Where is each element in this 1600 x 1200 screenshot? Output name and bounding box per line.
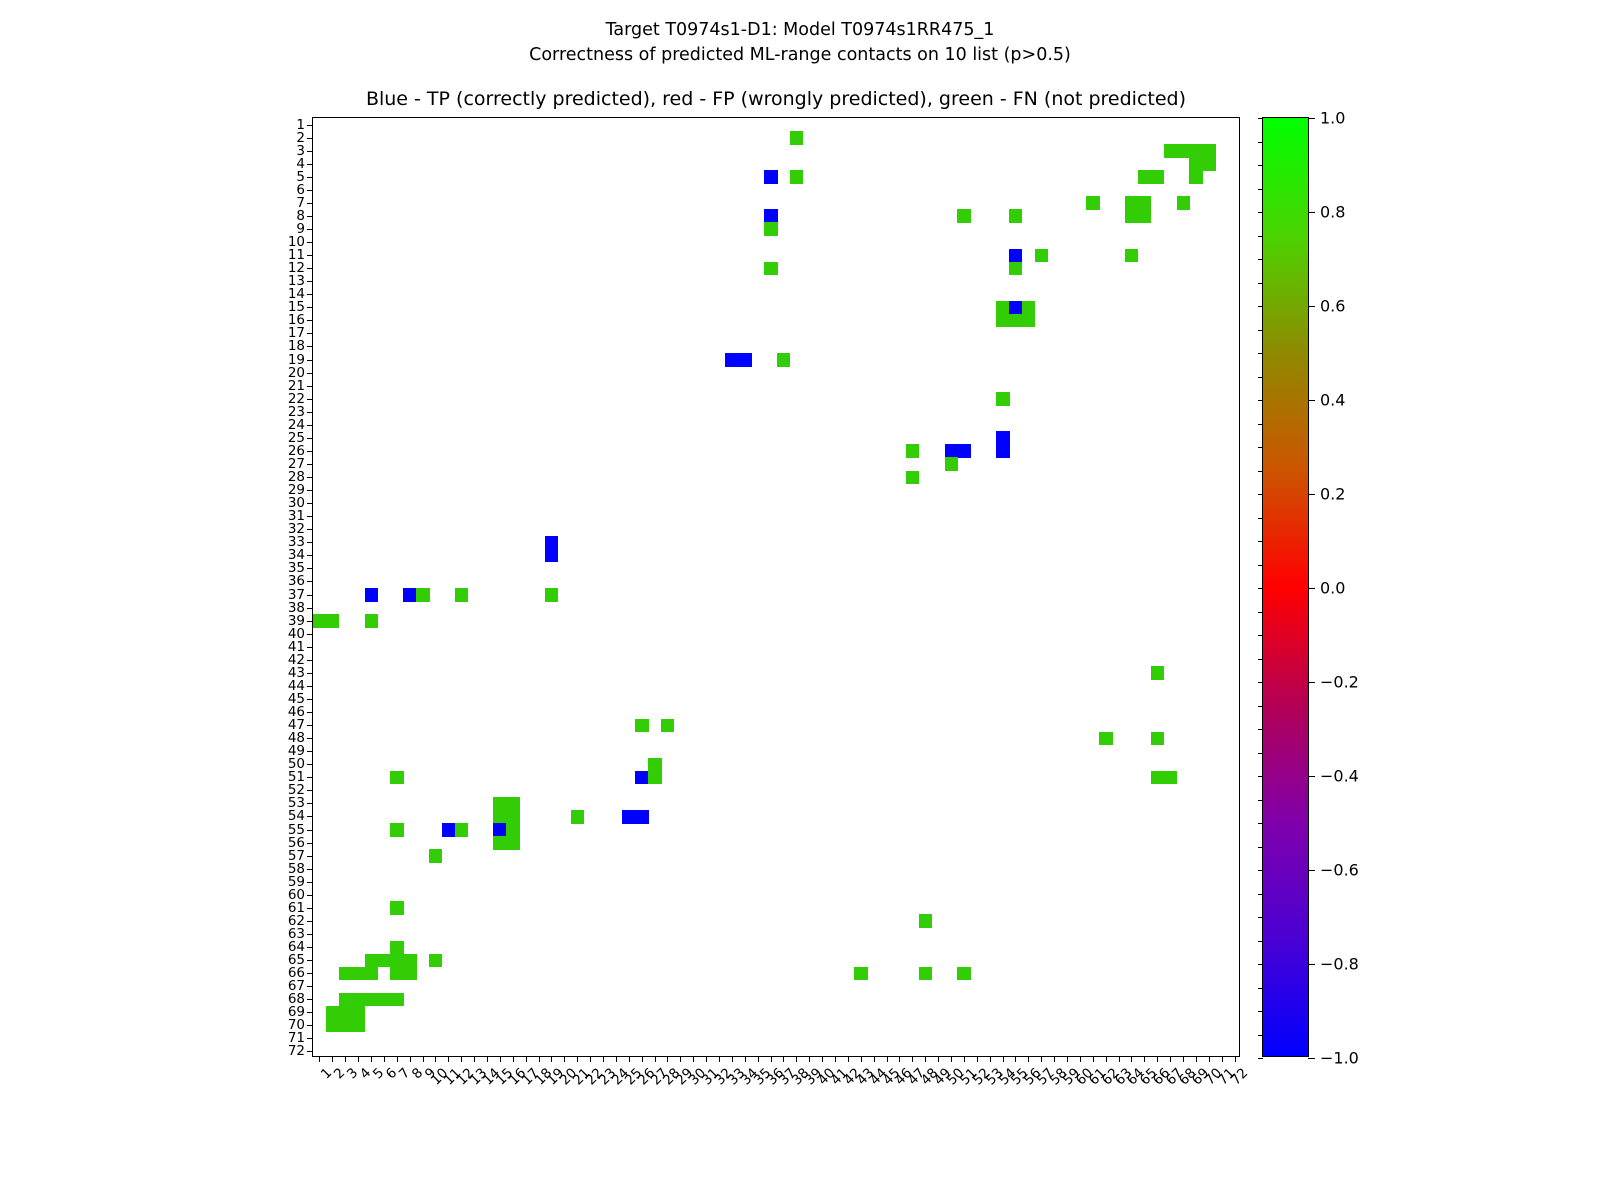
y-axis-tick-mark bbox=[307, 333, 313, 334]
colorbar-tick-label: −1.0 bbox=[1320, 1049, 1359, 1068]
y-axis-tick-mark bbox=[307, 738, 313, 739]
contact-cell bbox=[1151, 732, 1164, 746]
colorbar-tick-mark bbox=[1308, 870, 1315, 871]
x-axis-tick-mark bbox=[1235, 1056, 1236, 1062]
x-axis-tick-mark bbox=[1157, 1056, 1158, 1062]
y-axis-tick-mark bbox=[307, 503, 313, 504]
y-axis-tick-mark bbox=[307, 595, 313, 596]
colorbar-minor-tick bbox=[1258, 377, 1263, 378]
contact-cell bbox=[545, 549, 558, 563]
x-axis-tick-mark bbox=[513, 1056, 514, 1062]
x-axis-tick-mark bbox=[319, 1056, 320, 1062]
contact-cell bbox=[1138, 170, 1151, 184]
y-axis-tick-mark bbox=[307, 843, 313, 844]
contact-cell bbox=[1009, 314, 1022, 328]
contact-cell bbox=[416, 588, 429, 602]
x-axis-tick-label: 8 bbox=[409, 1065, 426, 1082]
colorbar-minor-tick bbox=[1258, 236, 1263, 237]
y-axis-tick-mark bbox=[307, 151, 313, 152]
y-axis-tick-mark bbox=[307, 320, 313, 321]
contact-cell bbox=[352, 967, 365, 981]
x-axis-tick-mark bbox=[887, 1056, 888, 1062]
contact-cell bbox=[1164, 144, 1177, 158]
contact-cell bbox=[764, 222, 777, 236]
axes-title-legend: Blue - TP (correctly predicted), red - F… bbox=[312, 88, 1240, 110]
x-axis-tick-mark bbox=[564, 1056, 565, 1062]
x-axis-tick-mark bbox=[1003, 1056, 1004, 1062]
y-axis-tick-mark bbox=[307, 307, 313, 308]
x-axis-tick-mark bbox=[474, 1056, 475, 1062]
colorbar-minor-tick bbox=[1258, 847, 1263, 848]
contact-cell bbox=[648, 771, 661, 785]
contact-cell bbox=[493, 823, 506, 837]
x-axis-tick-mark bbox=[745, 1056, 746, 1062]
colorbar-minor-tick bbox=[1258, 471, 1263, 472]
colorbar-tick-mark bbox=[1308, 494, 1315, 495]
contact-cell bbox=[352, 1019, 365, 1033]
colorbar-tick-label: 0.0 bbox=[1320, 579, 1345, 598]
colorbar-minor-tick bbox=[1258, 447, 1263, 448]
x-axis-tick-mark bbox=[796, 1056, 797, 1062]
contact-cell bbox=[790, 131, 803, 145]
x-axis-tick-mark bbox=[667, 1056, 668, 1062]
x-axis-tick-mark bbox=[358, 1056, 359, 1062]
x-axis-tick-mark bbox=[448, 1056, 449, 1062]
colorbar-minor-tick bbox=[1258, 565, 1263, 566]
x-axis-tick-mark bbox=[848, 1056, 849, 1062]
x-axis-tick-mark bbox=[1209, 1056, 1210, 1062]
colorbar-tick-label: 0.4 bbox=[1320, 391, 1345, 410]
contact-cell bbox=[493, 836, 506, 850]
y-axis-tick-mark bbox=[307, 1051, 313, 1052]
colorbar-tick-mark bbox=[1308, 682, 1315, 683]
contact-cell bbox=[957, 444, 970, 458]
x-axis-tick-mark bbox=[912, 1056, 913, 1062]
x-axis-tick-mark bbox=[771, 1056, 772, 1062]
y-axis-tick-mark bbox=[307, 464, 313, 465]
x-axis-tick-mark bbox=[938, 1056, 939, 1062]
y-axis-tick-mark bbox=[307, 203, 313, 204]
contact-cell bbox=[390, 954, 403, 968]
x-axis-tick-mark bbox=[822, 1056, 823, 1062]
contact-cell bbox=[1151, 170, 1164, 184]
x-axis-tick-mark bbox=[977, 1056, 978, 1062]
colorbar-tick-label: 1.0 bbox=[1320, 109, 1345, 128]
colorbar-minor-tick bbox=[1258, 800, 1263, 801]
y-axis-tick-mark bbox=[307, 438, 313, 439]
contact-cell bbox=[945, 457, 958, 471]
contact-cell bbox=[506, 797, 519, 811]
contact-cell bbox=[506, 836, 519, 850]
x-axis-tick-mark bbox=[500, 1056, 501, 1062]
contact-cell bbox=[919, 914, 932, 928]
y-axis-tick-mark bbox=[307, 934, 313, 935]
contact-cell bbox=[339, 993, 352, 1007]
x-axis-tick-mark bbox=[526, 1056, 527, 1062]
y-axis-tick-mark bbox=[307, 921, 313, 922]
contact-cell bbox=[377, 993, 390, 1007]
y-axis-tick-mark bbox=[307, 451, 313, 452]
y-axis-tick-mark bbox=[307, 621, 313, 622]
x-axis-tick-mark bbox=[719, 1056, 720, 1062]
colorbar-tick-mark bbox=[1308, 212, 1315, 213]
x-axis-tick-mark bbox=[435, 1056, 436, 1062]
x-axis-tick-mark bbox=[1170, 1056, 1171, 1062]
contact-cell bbox=[1009, 249, 1022, 263]
y-axis-tick-mark bbox=[307, 581, 313, 582]
colorbar-minor-tick bbox=[1258, 588, 1263, 589]
x-axis-tick-mark bbox=[1015, 1056, 1016, 1062]
contact-cell bbox=[635, 719, 648, 733]
figure-suptitle: Target T0974s1-D1: Model T0974s1RR475_1 … bbox=[0, 18, 1600, 69]
colorbar-minor-tick bbox=[1258, 306, 1263, 307]
y-axis-tick-mark bbox=[307, 1012, 313, 1013]
contact-cell bbox=[1164, 771, 1177, 785]
x-axis-tick-mark bbox=[680, 1056, 681, 1062]
contact-cell bbox=[764, 262, 777, 276]
y-axis-tick-mark bbox=[307, 229, 313, 230]
colorbar-minor-tick bbox=[1258, 682, 1263, 683]
colorbar-tick-label: 0.8 bbox=[1320, 203, 1345, 222]
x-axis-tick-mark bbox=[861, 1056, 862, 1062]
x-axis-tick-mark bbox=[1144, 1056, 1145, 1062]
x-axis-tick-mark bbox=[332, 1056, 333, 1062]
contact-cell bbox=[339, 1019, 352, 1033]
y-axis-tick-mark bbox=[307, 399, 313, 400]
contact-cell bbox=[365, 614, 378, 628]
y-axis-tick-mark bbox=[307, 686, 313, 687]
contact-cell bbox=[1189, 144, 1202, 158]
y-axis-tick-mark bbox=[307, 177, 313, 178]
contact-cell bbox=[1125, 249, 1138, 263]
contact-cell bbox=[996, 431, 1009, 445]
x-axis-tick-mark bbox=[899, 1056, 900, 1062]
x-axis-tick-mark bbox=[1041, 1056, 1042, 1062]
x-axis-tick-mark bbox=[809, 1056, 810, 1062]
y-axis-tick-mark bbox=[307, 490, 313, 491]
x-axis-tick-mark bbox=[590, 1056, 591, 1062]
x-axis-tick-mark bbox=[1093, 1056, 1094, 1062]
contact-cell bbox=[545, 588, 558, 602]
colorbar-minor-tick bbox=[1258, 706, 1263, 707]
y-axis-tick-mark bbox=[307, 216, 313, 217]
colorbar-tick-label: 0.2 bbox=[1320, 485, 1345, 504]
contact-cell bbox=[945, 444, 958, 458]
y-axis-tick-mark bbox=[307, 960, 313, 961]
y-axis-tick-mark bbox=[307, 294, 313, 295]
colorbar-minor-tick bbox=[1258, 753, 1263, 754]
colorbar-minor-tick bbox=[1258, 118, 1263, 119]
contact-cell bbox=[313, 614, 326, 628]
contact-cell bbox=[906, 471, 919, 485]
colorbar-tick-label: −0.2 bbox=[1320, 673, 1359, 692]
colorbar-minor-tick bbox=[1258, 659, 1263, 660]
contact-cell bbox=[996, 314, 1009, 328]
colorbar-minor-tick bbox=[1258, 776, 1263, 777]
contact-cell bbox=[571, 810, 584, 824]
contact-cell bbox=[1202, 157, 1215, 171]
x-axis-tick-mark bbox=[874, 1056, 875, 1062]
x-axis-tick-mark bbox=[539, 1056, 540, 1062]
colorbar-minor-tick bbox=[1258, 330, 1263, 331]
contact-cell bbox=[455, 823, 468, 837]
x-axis-tick-mark bbox=[616, 1056, 617, 1062]
y-axis-tick-mark bbox=[307, 242, 313, 243]
contact-cell bbox=[1189, 157, 1202, 171]
contact-cell bbox=[390, 823, 403, 837]
contact-cell bbox=[352, 1006, 365, 1020]
contact-cell bbox=[1009, 209, 1022, 223]
x-axis-tick-mark bbox=[835, 1056, 836, 1062]
colorbar-minor-tick bbox=[1258, 424, 1263, 425]
x-axis-tick-mark bbox=[487, 1056, 488, 1062]
y-axis-tick-mark bbox=[307, 190, 313, 191]
colorbar-minor-tick bbox=[1258, 612, 1263, 613]
x-axis-tick-mark bbox=[551, 1056, 552, 1062]
contact-cell bbox=[377, 954, 390, 968]
contact-cell bbox=[790, 170, 803, 184]
contact-cell bbox=[1086, 196, 1099, 210]
y-axis-tick-mark bbox=[307, 803, 313, 804]
y-axis-tick-mark bbox=[307, 882, 313, 883]
colorbar-minor-tick bbox=[1258, 941, 1263, 942]
contact-cell bbox=[390, 941, 403, 955]
x-axis-tick-mark bbox=[384, 1056, 385, 1062]
y-axis-tick-mark bbox=[307, 125, 313, 126]
colorbar-minor-tick bbox=[1258, 212, 1263, 213]
contact-cell bbox=[403, 967, 416, 981]
contact-cell bbox=[326, 614, 339, 628]
contact-cell bbox=[352, 993, 365, 1007]
x-axis-tick-mark bbox=[1131, 1056, 1132, 1062]
colorbar-minor-tick bbox=[1258, 917, 1263, 918]
colorbar-minor-tick bbox=[1258, 635, 1263, 636]
contact-cell bbox=[996, 301, 1009, 315]
contact-cell bbox=[764, 170, 777, 184]
y-axis-tick-mark bbox=[307, 973, 313, 974]
colorbar-minor-tick bbox=[1258, 988, 1263, 989]
colorbar-minor-tick bbox=[1258, 870, 1263, 871]
colorbar-tick-label: −0.6 bbox=[1320, 861, 1359, 880]
contact-cell bbox=[919, 967, 932, 981]
y-axis-tick-mark bbox=[307, 386, 313, 387]
x-axis-tick-mark bbox=[629, 1056, 630, 1062]
contact-cell bbox=[545, 536, 558, 550]
colorbar-tick-mark bbox=[1308, 776, 1315, 777]
x-axis-tick-mark bbox=[577, 1056, 578, 1062]
y-axis-tick-mark bbox=[307, 516, 313, 517]
contact-cell bbox=[1099, 732, 1112, 746]
x-axis-tick-mark bbox=[1067, 1056, 1068, 1062]
y-axis-tick-mark bbox=[307, 542, 313, 543]
colorbar-minor-tick bbox=[1258, 353, 1263, 354]
colorbar[interactable]: 1.00.80.60.40.20.0−0.2−0.4−0.6−0.8−1.0 bbox=[1262, 117, 1309, 1057]
colorbar-tick-label: −0.4 bbox=[1320, 767, 1359, 786]
contact-cell bbox=[1177, 144, 1190, 158]
contact-cell bbox=[429, 954, 442, 968]
y-axis-tick-mark bbox=[307, 164, 313, 165]
y-axis-tick-mark bbox=[307, 986, 313, 987]
colorbar-minor-tick bbox=[1258, 283, 1263, 284]
y-axis-tick-mark bbox=[307, 830, 313, 831]
colorbar-tick-mark bbox=[1308, 588, 1315, 589]
contact-cell bbox=[661, 719, 674, 733]
y-axis-tick-mark bbox=[307, 725, 313, 726]
y-axis-tick-mark bbox=[307, 699, 313, 700]
contact-cell bbox=[906, 444, 919, 458]
contact-cell bbox=[996, 392, 1009, 406]
y-axis-tick-mark bbox=[307, 255, 313, 256]
x-axis-tick-mark bbox=[758, 1056, 759, 1062]
y-axis-tick-mark bbox=[307, 568, 313, 569]
contact-cell bbox=[493, 797, 506, 811]
y-axis-tick-mark bbox=[307, 908, 313, 909]
contact-cell bbox=[365, 967, 378, 981]
contact-cell bbox=[326, 1019, 339, 1033]
contact-cell bbox=[1125, 196, 1138, 210]
contact-cell bbox=[1035, 249, 1048, 263]
x-axis-tick-mark bbox=[655, 1056, 656, 1062]
x-axis-tick-mark bbox=[693, 1056, 694, 1062]
y-axis-tick-mark bbox=[307, 999, 313, 1000]
suptitle-line-2: Correctness of predicted ML-range contac… bbox=[0, 43, 1600, 68]
y-axis-tick-mark bbox=[307, 425, 313, 426]
y-axis-tick-mark bbox=[307, 412, 313, 413]
contact-cell bbox=[1022, 314, 1035, 328]
y-axis-tick-mark bbox=[307, 856, 313, 857]
suptitle-line-1: Target T0974s1-D1: Model T0974s1RR475_1 bbox=[0, 18, 1600, 43]
contact-cell bbox=[1202, 144, 1215, 158]
x-axis-tick-mark bbox=[706, 1056, 707, 1062]
x-axis-tick-mark bbox=[990, 1056, 991, 1062]
contact-cell bbox=[365, 954, 378, 968]
y-axis-tick-mark bbox=[307, 1038, 313, 1039]
x-axis-tick-mark bbox=[925, 1056, 926, 1062]
contact-cell bbox=[996, 444, 1009, 458]
y-axis-tick-mark bbox=[307, 529, 313, 530]
contact-cell bbox=[390, 993, 403, 1007]
contact-cell bbox=[390, 901, 403, 915]
colorbar-minor-tick bbox=[1258, 1035, 1263, 1036]
contact-cell bbox=[1009, 262, 1022, 276]
x-axis-tick-mark bbox=[783, 1056, 784, 1062]
x-axis-tick-mark bbox=[951, 1056, 952, 1062]
y-axis-tick-mark bbox=[307, 947, 313, 948]
contact-cell bbox=[1177, 196, 1190, 210]
y-axis-tick-mark bbox=[307, 555, 313, 556]
colorbar-minor-tick bbox=[1258, 1011, 1263, 1012]
contact-cell bbox=[506, 823, 519, 837]
y-axis-tick-mark bbox=[307, 634, 313, 635]
y-axis-tick-mark bbox=[307, 360, 313, 361]
colorbar-minor-tick bbox=[1258, 518, 1263, 519]
colorbar-minor-tick bbox=[1258, 1058, 1263, 1059]
contact-cell bbox=[429, 849, 442, 863]
colorbar-tick-label: −0.8 bbox=[1320, 955, 1359, 974]
y-axis-tick-mark bbox=[307, 660, 313, 661]
x-axis-tick-mark bbox=[345, 1056, 346, 1062]
contact-cell bbox=[764, 209, 777, 223]
y-axis-tick-mark bbox=[307, 138, 313, 139]
y-axis-tick-mark bbox=[307, 647, 313, 648]
y-axis-tick-mark bbox=[307, 869, 313, 870]
y-axis-tick-mark bbox=[307, 477, 313, 478]
colorbar-tick-mark bbox=[1308, 400, 1315, 401]
contact-cell bbox=[725, 353, 738, 367]
colorbar-minor-tick bbox=[1258, 541, 1263, 542]
contact-cell bbox=[442, 823, 455, 837]
contact-map-cells bbox=[313, 118, 1239, 1056]
contact-cell bbox=[455, 588, 468, 602]
contact-cell bbox=[403, 954, 416, 968]
colorbar-tick-mark bbox=[1308, 306, 1315, 307]
colorbar-minor-tick bbox=[1258, 259, 1263, 260]
contact-cell bbox=[957, 209, 970, 223]
contact-cell bbox=[365, 993, 378, 1007]
colorbar-minor-tick bbox=[1258, 189, 1263, 190]
x-axis-tick-mark bbox=[410, 1056, 411, 1062]
colorbar-minor-tick bbox=[1258, 964, 1263, 965]
contact-cell bbox=[339, 967, 352, 981]
contact-cell bbox=[1138, 196, 1151, 210]
y-axis-tick-mark bbox=[307, 608, 313, 609]
y-axis-tick-mark bbox=[307, 764, 313, 765]
x-axis-tick-mark bbox=[603, 1056, 604, 1062]
contact-map-figure: Target T0974s1-D1: Model T0974s1RR475_1 … bbox=[0, 0, 1600, 1200]
contact-cell bbox=[403, 588, 416, 602]
colorbar-minor-tick bbox=[1258, 894, 1263, 895]
x-axis-tick-mark bbox=[1119, 1056, 1120, 1062]
y-axis-tick-mark bbox=[307, 895, 313, 896]
y-axis-tick-mark bbox=[307, 268, 313, 269]
contact-cell bbox=[365, 588, 378, 602]
x-axis-tick-mark bbox=[1106, 1056, 1107, 1062]
contact-cell bbox=[1138, 209, 1151, 223]
x-axis-tick-mark bbox=[1028, 1056, 1029, 1062]
x-axis-tick-mark bbox=[1196, 1056, 1197, 1062]
contact-cell bbox=[493, 810, 506, 824]
y-axis-tick-mark bbox=[307, 673, 313, 674]
colorbar-minor-tick bbox=[1258, 165, 1263, 166]
colorbar-tick-mark bbox=[1308, 964, 1315, 965]
contact-cell bbox=[622, 810, 635, 824]
x-axis-tick-mark bbox=[732, 1056, 733, 1062]
contact-cell bbox=[635, 810, 648, 824]
y-axis-tick-mark bbox=[307, 816, 313, 817]
x-axis-tick-mark bbox=[371, 1056, 372, 1062]
y-axis-tick-mark bbox=[307, 373, 313, 374]
colorbar-minor-tick bbox=[1258, 823, 1263, 824]
colorbar-tick-mark bbox=[1308, 1058, 1315, 1059]
contact-cell bbox=[1022, 301, 1035, 315]
contact-map-axes[interactable]: 1234567891011121314151617181920212223242… bbox=[312, 117, 1240, 1057]
contact-cell bbox=[777, 353, 790, 367]
x-axis-tick-mark bbox=[1054, 1056, 1055, 1062]
x-axis-tick-mark bbox=[397, 1056, 398, 1062]
contact-cell bbox=[326, 1006, 339, 1020]
y-axis-tick-mark bbox=[307, 790, 313, 791]
x-axis-tick-mark bbox=[1080, 1056, 1081, 1062]
x-axis-tick-mark bbox=[461, 1056, 462, 1062]
contact-cell bbox=[1009, 301, 1022, 315]
contact-cell bbox=[635, 771, 648, 785]
x-axis-tick-mark bbox=[642, 1056, 643, 1062]
y-axis-tick-mark bbox=[307, 777, 313, 778]
x-axis-tick-mark bbox=[1222, 1056, 1223, 1062]
x-axis-tick-mark bbox=[964, 1056, 965, 1062]
y-axis-tick-mark bbox=[307, 346, 313, 347]
contact-cell bbox=[854, 967, 867, 981]
